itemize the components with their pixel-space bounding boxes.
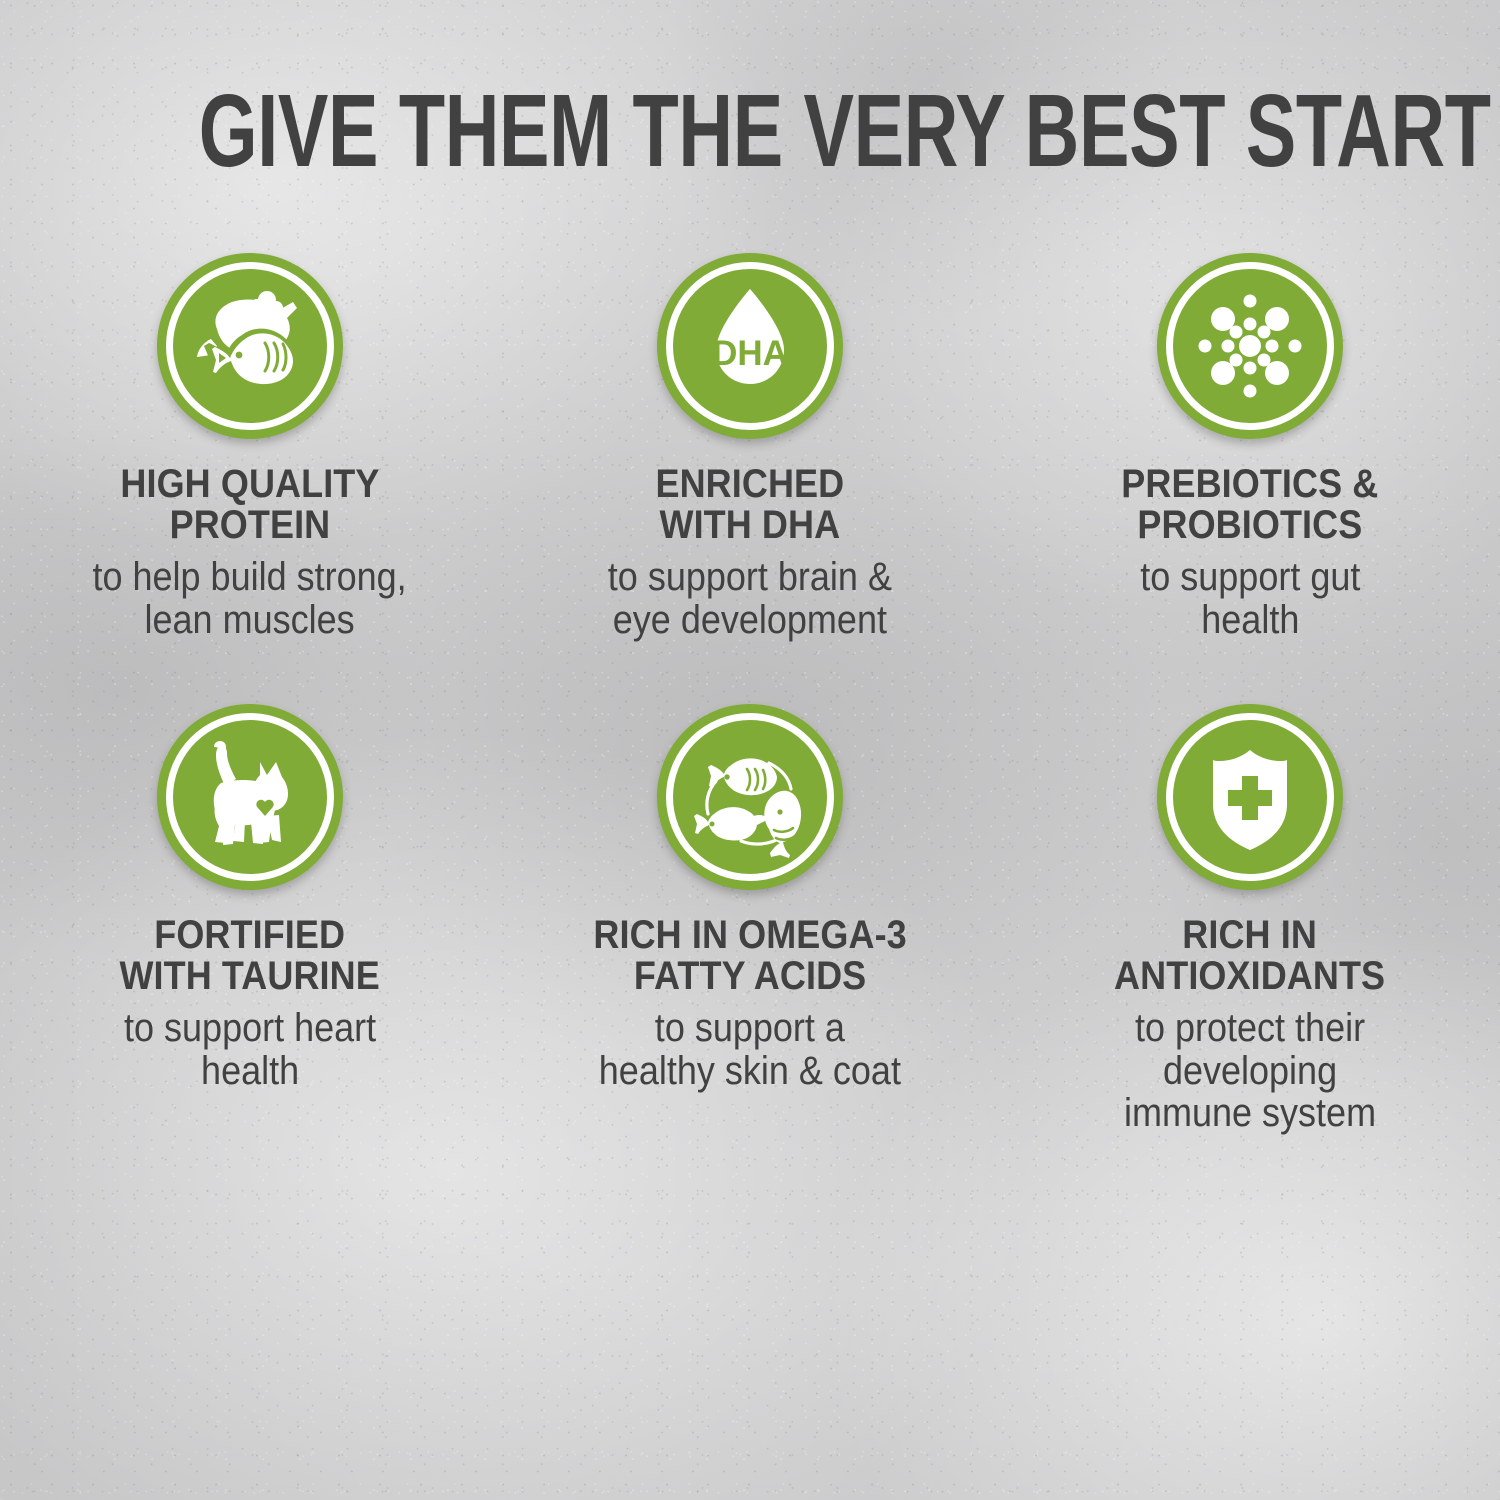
benefit-desc-line: to support gut (1140, 556, 1360, 599)
benefit-rich-in-omega-3: RICH IN OMEGA-3 FATTY ACIDS to support a… (515, 704, 985, 1136)
benefit-desc-line: immune system (1124, 1092, 1376, 1135)
benefit-title: RICH IN ANTIOXIDANTS (1114, 915, 1385, 998)
benefit-title-line: ANTIOXIDANTS (1114, 956, 1385, 998)
benefit-high-quality-protein: HIGH QUALITY PROTEIN to help build stron… (15, 253, 485, 642)
benefit-prebiotics-probiotics: PREBIOTICS & PROBIOTICS to support gut h… (1015, 253, 1485, 642)
benefit-desc-line: eye development (608, 599, 892, 642)
benefit-title-line: FATTY ACIDS (593, 956, 906, 998)
benefit-desc-line: to protect their (1124, 1007, 1376, 1050)
benefit-title: RICH IN OMEGA-3 FATTY ACIDS (593, 915, 906, 998)
benefit-badge (1157, 253, 1343, 439)
dha-droplet-icon: DHA (681, 277, 819, 415)
benefit-description: to support a healthy skin & coat (599, 1007, 901, 1093)
benefit-title-line: FORTIFIED (120, 915, 380, 957)
probiotic-dots-icon (1181, 277, 1319, 415)
benefit-desc-line: to support a (599, 1007, 901, 1050)
benefit-title: PREBIOTICS & PROBIOTICS (1121, 464, 1378, 547)
benefit-badge (157, 704, 343, 890)
benefit-badge (157, 253, 343, 439)
page-title: GIVE THEM THE VERY BEST START (199, 84, 1302, 179)
chicken-broccoli-fish-icon (181, 277, 319, 415)
benefit-desc-line: to support brain & (608, 556, 892, 599)
benefit-enriched-with-dha: DHA ENRICHED WITH DHA to support brain &… (515, 253, 985, 642)
shield-cross-icon (1181, 728, 1319, 866)
benefit-grid: HIGH QUALITY PROTEIN to help build stron… (0, 253, 1500, 1135)
benefit-title: HIGH QUALITY PROTEIN (120, 464, 379, 547)
benefit-title: FORTIFIED WITH TAURINE (120, 915, 380, 998)
benefit-title-line: WITH TAURINE (120, 956, 380, 998)
benefit-badge (657, 704, 843, 890)
cat-heart-icon (181, 728, 319, 866)
benefit-title-line: ENRICHED (656, 464, 845, 506)
benefit-title-line: RICH IN OMEGA-3 (593, 915, 906, 957)
benefit-desc-line: lean muscles (93, 599, 407, 642)
benefit-desc-line: to help build strong, (93, 556, 407, 599)
benefit-title-line: RICH IN (1114, 915, 1385, 957)
benefit-title-line: WITH DHA (656, 505, 845, 547)
benefit-rich-in-antioxidants: RICH IN ANTIOXIDANTS to protect their de… (1015, 704, 1485, 1136)
benefit-desc-line: health (1140, 599, 1360, 642)
benefit-badge (1157, 704, 1343, 890)
benefit-desc-line: to support heart (124, 1007, 376, 1050)
benefit-desc-line: developing (1124, 1050, 1376, 1093)
three-fish-icon (681, 728, 819, 866)
benefit-title-line: HIGH QUALITY (120, 464, 379, 506)
benefit-description: to support heart health (124, 1007, 376, 1093)
benefit-description: to support brain & eye development (608, 556, 892, 642)
benefit-badge: DHA (657, 253, 843, 439)
droplet-label: DHA (712, 334, 788, 373)
benefit-title: ENRICHED WITH DHA (656, 464, 845, 547)
benefit-title-line: PROTEIN (120, 505, 379, 547)
benefit-title-line: PREBIOTICS & (1121, 464, 1378, 506)
infographic-page: GIVE THEM THE VERY BEST START (0, 0, 1500, 1500)
benefit-desc-line: health (124, 1050, 376, 1093)
benefit-description: to protect their developing immune syste… (1124, 1007, 1376, 1135)
benefit-title-line: PROBIOTICS (1121, 505, 1378, 547)
benefit-fortified-with-taurine: FORTIFIED WITH TAURINE to support heart … (15, 704, 485, 1136)
benefit-description: to help build strong, lean muscles (93, 556, 407, 642)
benefit-desc-line: healthy skin & coat (599, 1050, 901, 1093)
benefit-description: to support gut health (1140, 556, 1360, 642)
